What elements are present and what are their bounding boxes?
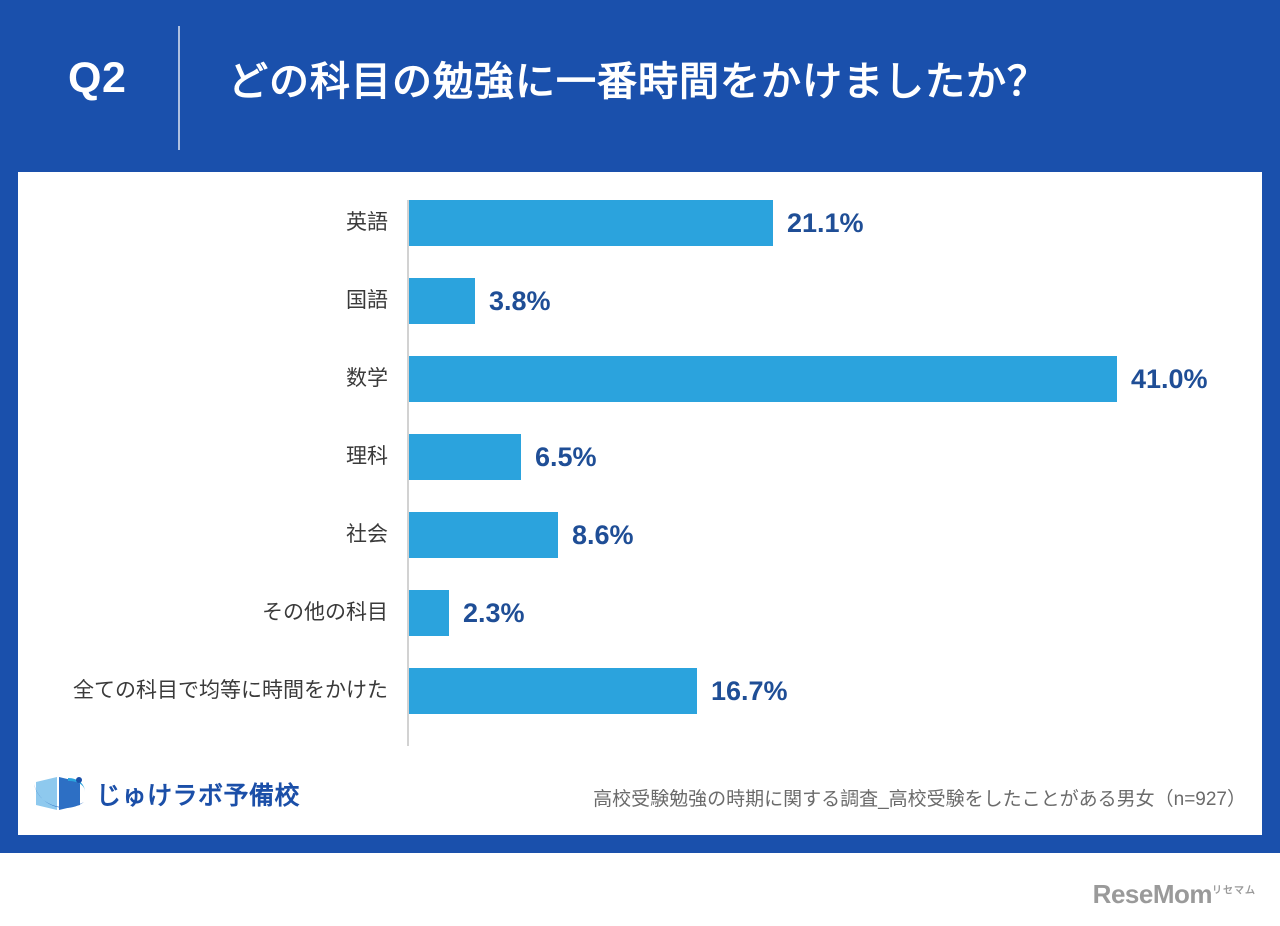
category-label: 社会 [346, 512, 388, 558]
bar [409, 278, 475, 324]
card-footer: じゅけラボ予備校 高校受験勉強の時期に関する調査_高校受験をしたことがある男女（… [18, 762, 1262, 835]
category-label: 国語 [346, 278, 388, 324]
watermark-text: ReseMom [1093, 879, 1212, 909]
bar [409, 668, 697, 714]
chart-row: 国語3.8% [18, 278, 1262, 324]
bar-value-label: 2.3% [463, 590, 525, 636]
chart-row: その他の科目2.3% [18, 590, 1262, 636]
brand-logo-text: じゅけラボ予備校 [96, 776, 300, 812]
chart-card: 英語21.1%国語3.8%数学41.0%理科6.5%社会8.6%その他の科目2.… [18, 172, 1262, 835]
question-number: Q2 [68, 57, 126, 100]
watermark-suffix: リセマム [1212, 885, 1256, 896]
bar-value-label: 3.8% [489, 278, 551, 324]
brand-logo: じゅけラボ予備校 [32, 772, 300, 816]
category-label: 理科 [346, 434, 388, 480]
bar [409, 434, 521, 480]
bar [409, 356, 1117, 402]
chart-row: 英語21.1% [18, 200, 1262, 246]
header-divider [178, 26, 180, 150]
chart-row: 数学41.0% [18, 356, 1262, 402]
bar-value-label: 21.1% [787, 200, 864, 246]
category-label: 英語 [346, 200, 388, 246]
category-label: 数学 [346, 356, 388, 402]
category-label: その他の科目 [262, 590, 388, 636]
bar-value-label: 6.5% [535, 434, 597, 480]
bar-value-label: 16.7% [711, 668, 788, 714]
bar [409, 512, 558, 558]
bar-chart: 英語21.1%国語3.8%数学41.0%理科6.5%社会8.6%その他の科目2.… [18, 172, 1262, 762]
open-book-swoosh-icon [32, 772, 88, 816]
chart-row: 理科6.5% [18, 434, 1262, 480]
bar-value-label: 8.6% [572, 512, 634, 558]
page-title: どの科目の勉強に一番時間をかけましたか？ [228, 60, 1048, 104]
chart-row: 社会8.6% [18, 512, 1262, 558]
resemom-watermark: ReseMomリセマム [1093, 879, 1256, 910]
category-label: 全ての科目で均等に時間をかけた [73, 668, 388, 714]
chart-row: 全ての科目で均等に時間をかけた16.7% [18, 668, 1262, 714]
bar [409, 200, 773, 246]
bar-value-label: 41.0% [1131, 356, 1208, 402]
header: Q2 どの科目の勉強に一番時間をかけましたか？ [0, 0, 1280, 172]
bar [409, 590, 449, 636]
source-note: 高校受験勉強の時期に関する調査_高校受験をしたことがある男女（n=927） [593, 784, 1246, 811]
survey-chart-page: Q2 どの科目の勉強に一番時間をかけましたか？ 英語21.1%国語3.8%数学4… [0, 0, 1280, 926]
